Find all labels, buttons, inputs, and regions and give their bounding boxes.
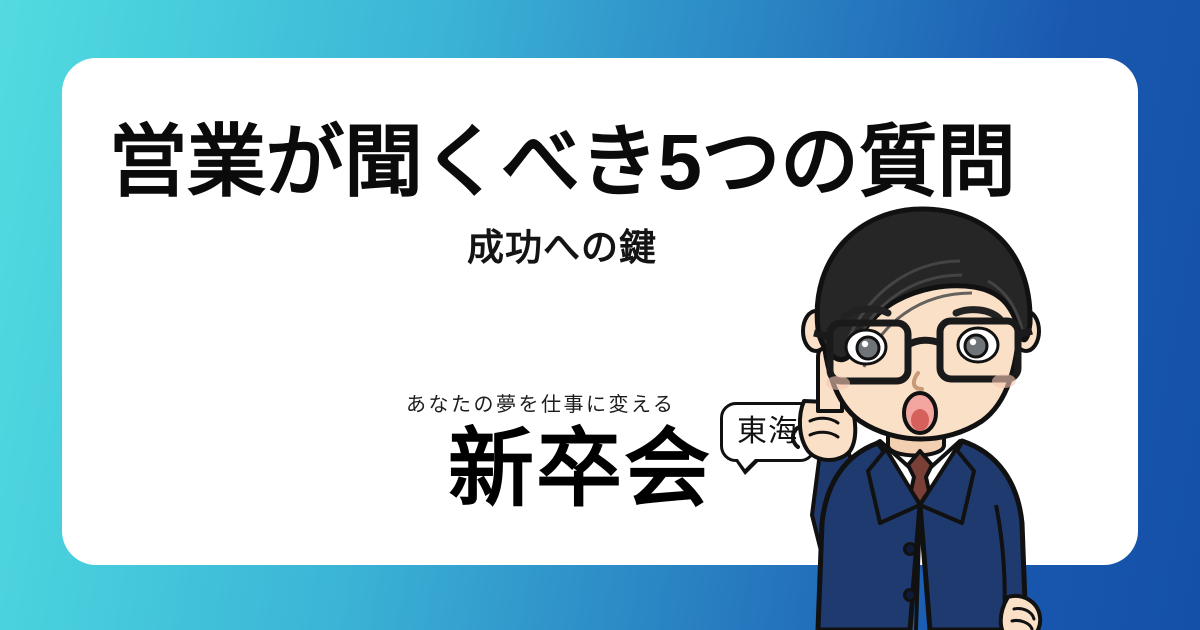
character-right-hand [1001, 596, 1040, 630]
character-blush-left [826, 376, 850, 390]
page-title: 営業が聞くべき5つの質問 [62, 120, 1062, 204]
brand-name: 新卒会 [448, 426, 712, 512]
speech-bubble-tail-fill [737, 458, 756, 469]
poster-canvas: 営業が聞くべき5つの質問 成功への鍵 あなたの夢を仕事に変える 新卒会 東海 [0, 0, 1200, 630]
character-illustration [760, 205, 1070, 630]
brand-logo: あなたの夢を仕事に変える 新卒会 東海 [400, 388, 820, 538]
character-blush-right [992, 374, 1016, 388]
brand-tagline: あなたの夢を仕事に変える [406, 388, 675, 417]
character-mouth [904, 393, 936, 433]
